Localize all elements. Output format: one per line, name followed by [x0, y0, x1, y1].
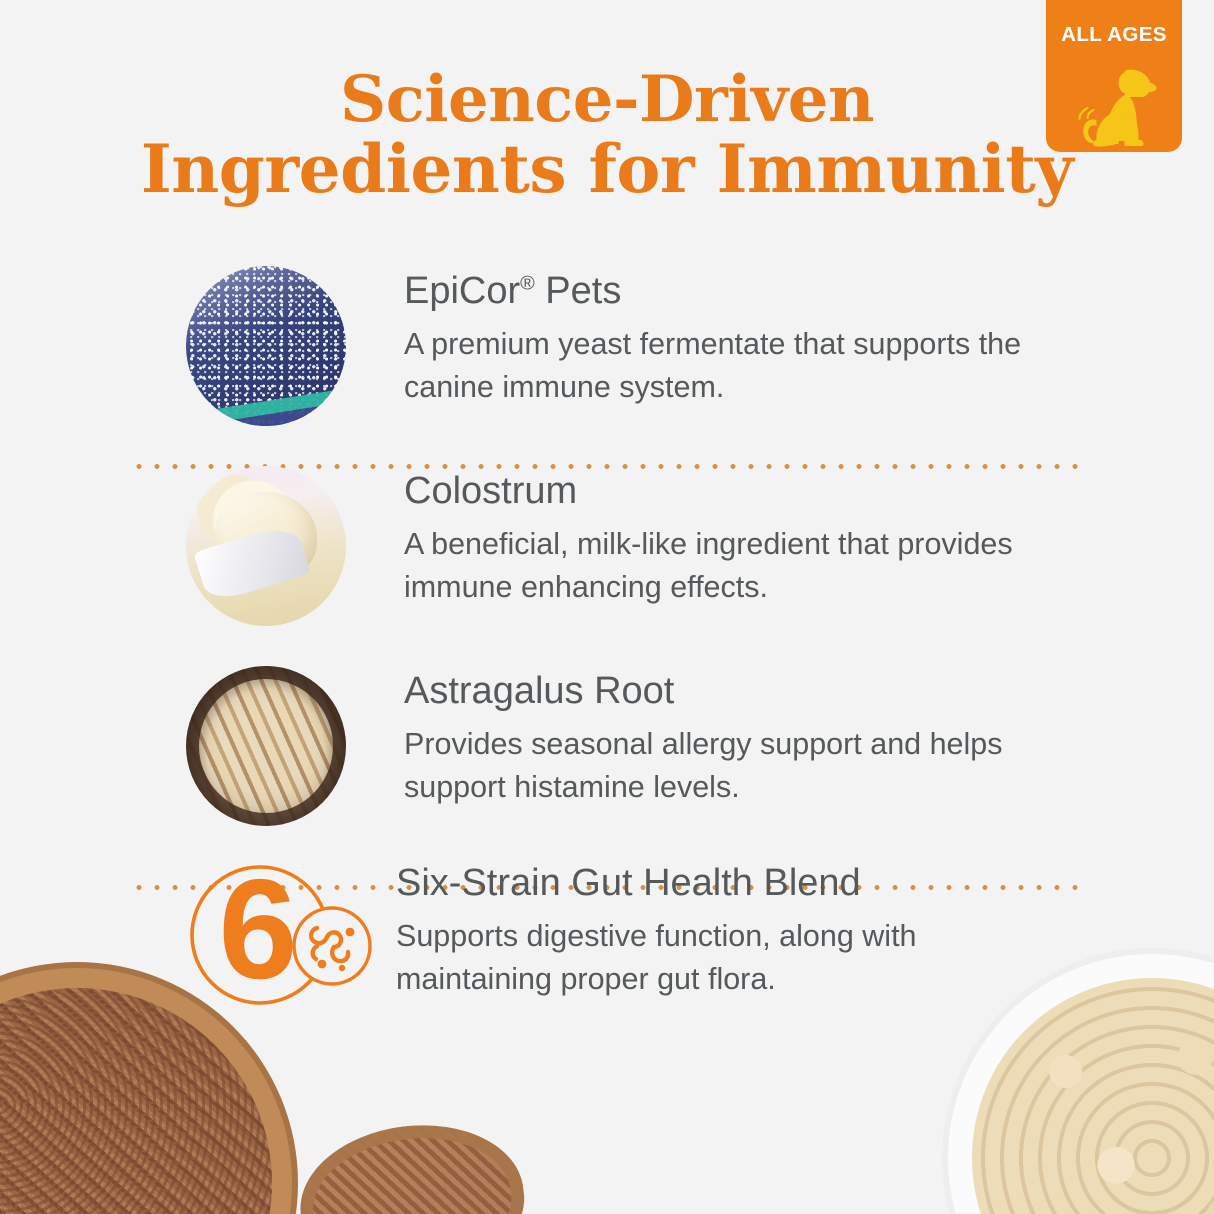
ingredient-description-astragalus: Provides seasonal allergy support and he…: [404, 723, 1024, 808]
gut-blend-icon-wrap: 6: [186, 860, 346, 1020]
ingredient-description-gut-blend: Supports digestive function, along with …: [396, 915, 1016, 1000]
ingredient-text-astragalus: Astragalus Root Provides seasonal allerg…: [404, 658, 1024, 808]
ingredient-heading-colostrum: Colostrum: [404, 472, 1024, 512]
ingredient-description-epicor: A premium yeast fermentate that supports…: [404, 323, 1024, 408]
registered-mark-icon: ®: [520, 272, 535, 294]
page-title-line-2: Ingredients for Immunity: [0, 134, 1214, 205]
ingredient-text-gut-blend: Six-Strain Gut Health Blend Supports dig…: [396, 858, 1016, 1000]
ingredient-list: EpiCor® Pets A premium yeast fermentate …: [0, 258, 1214, 1008]
infographic-canvas: ALL AGES: [0, 0, 1214, 1214]
ingredient-name-epicor: EpiCor: [404, 270, 520, 312]
number-six-probiotic-icon: 6: [186, 860, 372, 1010]
ingredient-description-colostrum: A beneficial, milk-like ingredient that …: [404, 523, 1024, 608]
ingredient-text-epicor: EpiCor® Pets A premium yeast fermentate …: [404, 258, 1024, 408]
all-ages-badge-label: ALL AGES: [1061, 25, 1167, 46]
ingredient-text-colostrum: Colostrum A beneficial, milk-like ingred…: [404, 458, 1024, 608]
page-title: Science-Driven Ingredients for Immunity: [0, 66, 1214, 205]
flax-seed-spoon-image: [292, 1113, 533, 1214]
ingredient-heading-gut-blend: Six-Strain Gut Health Blend: [396, 864, 1016, 904]
page-title-line-1: Science-Driven: [0, 66, 1214, 134]
ingredient-heading-astragalus: Astragalus Root: [404, 672, 1024, 712]
ingredient-row-astragalus: Astragalus Root Provides seasonal allerg…: [0, 658, 1214, 858]
ingredient-row-colostrum: Colostrum A beneficial, milk-like ingred…: [0, 458, 1214, 658]
ingredient-name-suffix-epicor: Pets: [535, 270, 622, 312]
gut-blend-number: 6: [219, 860, 298, 1009]
petri-dish-image: [186, 266, 346, 426]
ingredient-row-epicor: EpiCor® Pets A premium yeast fermentate …: [0, 258, 1214, 458]
colostrum-powder-image: [186, 466, 346, 626]
ingredient-heading-epicor: EpiCor® Pets: [404, 272, 1024, 312]
chickpea-bowl-image: [972, 978, 1214, 1214]
ingredient-row-gut-blend: 6: [0, 858, 1214, 1008]
astragalus-root-image: [186, 666, 346, 826]
flax-seed-bowl-image: [0, 988, 272, 1214]
